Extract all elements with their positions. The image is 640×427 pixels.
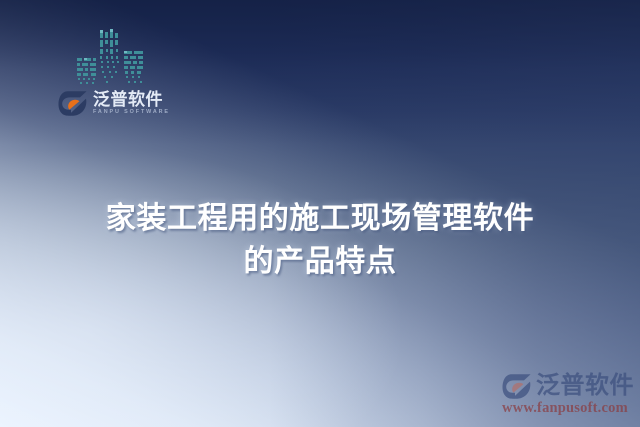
watermark-name-cn: 泛普软件 <box>536 374 634 398</box>
watermark-url: www.fanpusoft.com <box>502 401 634 416</box>
page-title-line-2: 的产品特点 <box>54 241 586 284</box>
brand-name-en: FANPU SOFTWARE <box>93 110 170 115</box>
page-title: 家装工程用的施工现场管理软件 的产品特点 <box>0 198 640 283</box>
brand-text-block: 泛普软件 FANPU SOFTWARE <box>93 91 170 115</box>
slide-canvas: 泛普软件 FANPU SOFTWARE 家装工程用的施工现场管理软件 的产品特点… <box>0 0 640 427</box>
page-title-line-1: 家装工程用的施工现场管理软件 <box>54 198 586 241</box>
fanpu-logo-icon <box>502 373 532 400</box>
watermark: 泛普软件 www.fanpusoft.com <box>502 373 634 416</box>
brand-logo: 泛普软件 FANPU SOFTWARE <box>58 90 170 117</box>
brand-name-cn: 泛普软件 <box>93 91 170 108</box>
fanpu-logo-icon <box>58 90 88 117</box>
watermark-logo-row: 泛普软件 <box>502 373 634 400</box>
pixel-cityscape-icon <box>76 27 144 87</box>
